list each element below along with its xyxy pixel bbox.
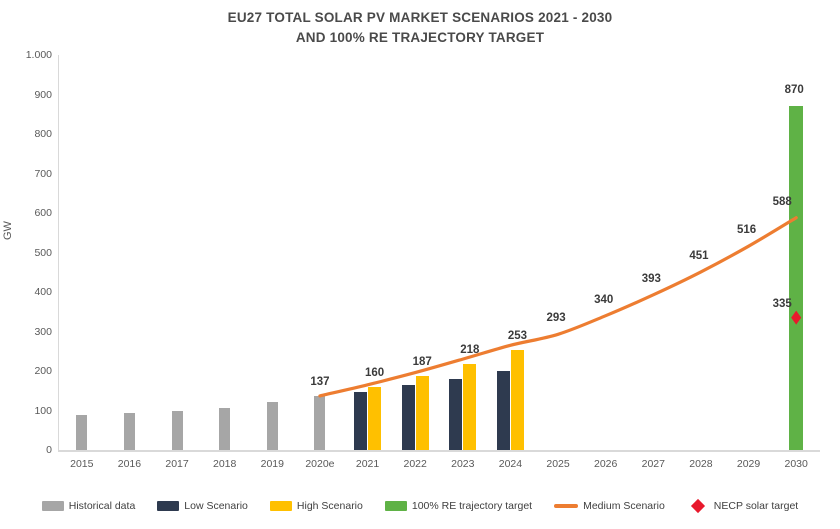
data-label-2028-451: 451 (669, 250, 729, 262)
legend-item-necp-solar-target[interactable]: NECP solar target (687, 500, 798, 512)
legend-item-high-scenario[interactable]: High Scenario (270, 500, 363, 512)
data-label-2022-187: 187 (392, 356, 452, 368)
y-axis-tick-label: 800 (4, 128, 52, 140)
data-label-2025-293: 293 (526, 312, 586, 324)
data-label-2026-340: 340 (574, 294, 634, 306)
y-axis-tick-label: 1.000 (4, 49, 52, 61)
data-label-2021-160: 160 (345, 367, 405, 379)
y-axis-tick-label: 700 (4, 168, 52, 180)
data-label-2030-335: 335 (752, 298, 812, 310)
bar-low-scenario-2024 (497, 371, 510, 450)
legend-swatch-diamond-icon (691, 499, 705, 513)
legend-label: High Scenario (297, 500, 363, 512)
bar-historical-data-2016 (124, 413, 135, 450)
legend-label: 100% RE trajectory target (412, 500, 532, 512)
legend-swatch-box-icon (270, 501, 292, 511)
legend-item-low-scenario[interactable]: Low Scenario (157, 500, 248, 512)
x-axis-line (58, 450, 820, 452)
legend-label: Low Scenario (184, 500, 248, 512)
chart-legend: Historical dataLow ScenarioHigh Scenario… (0, 494, 840, 518)
bar-historical-data-2015 (76, 415, 87, 450)
bar-historical-data-2018 (219, 408, 230, 450)
data-label-2030-870: 870 (764, 84, 824, 96)
y-axis-tick-label: 900 (4, 89, 52, 101)
data-label-2024-253: 253 (487, 330, 547, 342)
legend-label: Medium Scenario (583, 500, 665, 512)
y-axis-tick-label: 600 (4, 207, 52, 219)
legend-swatch-box-icon (385, 501, 407, 511)
bar-historical-data-2019 (267, 402, 278, 450)
y-axis-tick-label: 300 (4, 326, 52, 338)
y-axis-tick-label: 200 (4, 365, 52, 377)
legend-item-100-re-trajectory-target[interactable]: 100% RE trajectory target (385, 500, 532, 512)
legend-swatch-line-icon (554, 504, 578, 508)
bar-high-scenario-2022 (416, 376, 429, 450)
chart-title-line-1: EU27 TOTAL SOLAR PV MARKET SCENARIOS 202… (0, 8, 840, 28)
chart-title-line-2: AND 100% RE TRAJECTORY TARGET (0, 28, 840, 48)
bar-low-scenario-2023 (449, 379, 462, 450)
data-label-2027-393: 393 (621, 273, 681, 285)
y-axis-tick-label: 400 (4, 286, 52, 298)
data-label-2029-516: 516 (717, 224, 777, 236)
legend-item-historical-data[interactable]: Historical data (42, 500, 136, 512)
legend-swatch-box-icon (42, 501, 64, 511)
y-axis-tick-label: 0 (4, 444, 52, 456)
bar-high-scenario-2021 (368, 387, 381, 450)
legend-label: NECP solar target (714, 500, 798, 512)
bar-historical-data-2020e (314, 396, 325, 450)
bar-100-re-trajectory-target-2030 (789, 106, 803, 450)
bar-low-scenario-2021 (354, 392, 367, 450)
bar-historical-data-2017 (172, 411, 183, 450)
data-label-2020e-137: 137 (290, 376, 350, 388)
x-axis-tick-label: 2030 (766, 458, 826, 470)
legend-item-medium-scenario[interactable]: Medium Scenario (554, 500, 665, 512)
legend-swatch-diamond-wrap (687, 501, 709, 511)
data-label-2023-218: 218 (440, 344, 500, 356)
bar-low-scenario-2022 (402, 385, 415, 450)
y-axis-ticks: 01002003004005006007008009001.000 (0, 55, 52, 451)
bar-high-scenario-2023 (463, 364, 476, 450)
chart-container: EU27 TOTAL SOLAR PV MARKET SCENARIOS 202… (0, 0, 840, 529)
legend-swatch-box-icon (157, 501, 179, 511)
y-axis-tick-label: 500 (4, 247, 52, 259)
bar-high-scenario-2024 (511, 350, 524, 450)
chart-title: EU27 TOTAL SOLAR PV MARKET SCENARIOS 202… (0, 8, 840, 48)
y-axis-tick-label: 100 (4, 405, 52, 417)
data-label-2030-588: 588 (752, 196, 812, 208)
legend-label: Historical data (69, 500, 136, 512)
